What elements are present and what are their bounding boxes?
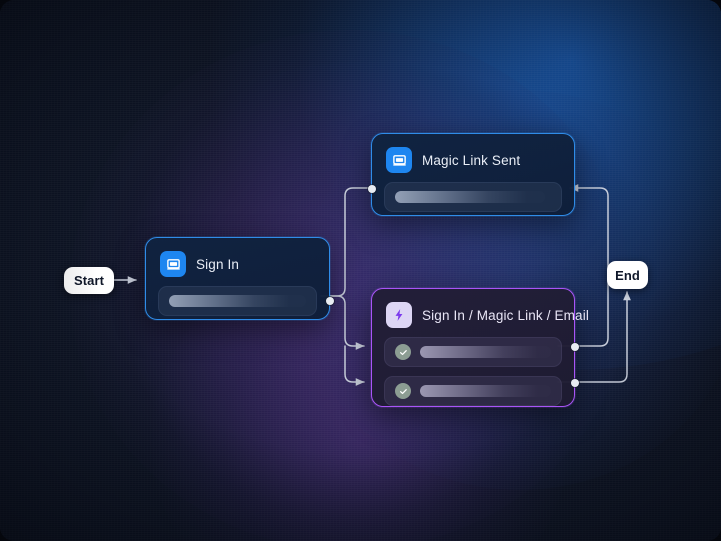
browser-window-icon bbox=[386, 147, 412, 173]
check-circle-icon bbox=[395, 344, 411, 360]
node-sign-in-row-1[interactable] bbox=[158, 286, 317, 316]
output-port-auth-row-2[interactable] bbox=[571, 379, 579, 387]
check-circle-icon bbox=[395, 383, 411, 399]
start-node[interactable]: Start bbox=[64, 267, 114, 294]
lightning-bolt-icon bbox=[386, 302, 412, 328]
node-auth-methods-row-2[interactable] bbox=[384, 376, 562, 406]
output-port-auth-row-1[interactable] bbox=[571, 343, 579, 351]
start-node-label: Start bbox=[74, 273, 104, 288]
skeleton-bar bbox=[420, 346, 551, 358]
skeleton-bar bbox=[395, 191, 545, 203]
end-node[interactable]: End bbox=[607, 261, 648, 289]
node-sign-in-title: Sign In bbox=[196, 257, 239, 272]
edge-sign-in-to-auth-row2 bbox=[345, 346, 364, 382]
node-sign-in[interactable]: Sign In bbox=[145, 237, 330, 320]
output-port-sign-in[interactable] bbox=[326, 297, 334, 305]
end-node-label: End bbox=[615, 268, 640, 283]
node-magic-link-sent-row-1[interactable] bbox=[384, 182, 562, 212]
node-sign-in-header: Sign In bbox=[146, 238, 329, 286]
node-magic-link-sent-title: Magic Link Sent bbox=[422, 153, 520, 168]
node-magic-link-sent[interactable]: Magic Link Sent bbox=[371, 133, 575, 216]
node-magic-link-sent-rows bbox=[372, 182, 574, 224]
skeleton-bar bbox=[169, 295, 306, 307]
node-auth-methods[interactable]: Sign In / Magic Link / Email bbox=[371, 288, 575, 407]
node-sign-in-rows bbox=[146, 286, 329, 328]
input-port-magic-link-sent[interactable] bbox=[368, 185, 376, 193]
node-auth-methods-rows bbox=[372, 337, 574, 418]
flow-canvas[interactable]: Start End Sign In bbox=[0, 0, 721, 541]
node-auth-methods-header: Sign In / Magic Link / Email bbox=[372, 289, 574, 337]
browser-window-icon bbox=[160, 251, 186, 277]
node-magic-link-sent-header: Magic Link Sent bbox=[372, 134, 574, 182]
node-auth-methods-title: Sign In / Magic Link / Email bbox=[422, 308, 589, 323]
skeleton-bar bbox=[420, 385, 551, 397]
node-auth-methods-row-1[interactable] bbox=[384, 337, 562, 367]
